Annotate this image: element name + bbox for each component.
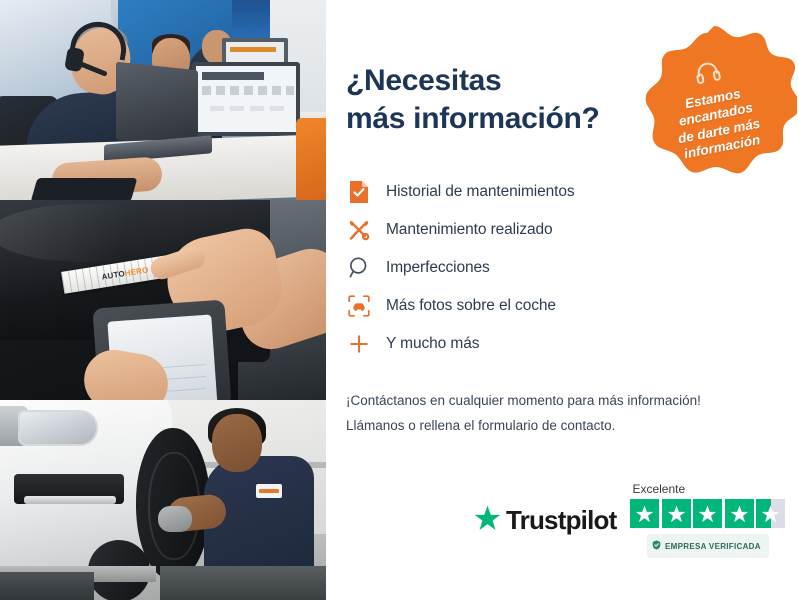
list-item-label: Imperfecciones: [386, 259, 490, 277]
magnifier-icon: [346, 255, 372, 281]
headline-line-1: ¿Necesitas: [346, 64, 501, 97]
car-headlight: [18, 410, 98, 446]
car-viewfinder-icon: [346, 293, 372, 319]
technician-glove: [158, 506, 192, 532]
call-center-agents-photo: [0, 0, 326, 200]
verified-label: EMPRESA VERIFICADA: [665, 542, 761, 551]
badge-content: Estamos encantados de darte más informac…: [617, 8, 799, 203]
document-check-icon: [346, 179, 372, 205]
verified-business-badge: EMPRESA VERIFICADA: [647, 534, 769, 558]
list-item-label: Historial de mantenimientos: [386, 183, 575, 201]
trustpilot-wordmark: Trustpilot: [506, 505, 616, 536]
list-item: Imperfecciones: [346, 249, 799, 287]
desk-tablet: [31, 178, 138, 200]
car-reflection: [0, 204, 180, 262]
trustpilot-score-group: Excelente: [630, 482, 785, 558]
desktop-monitor: [192, 62, 300, 136]
tools-cross-icon: [346, 217, 372, 243]
laptop-screen: [116, 62, 198, 149]
list-item-label: Más fotos sobre el coche: [386, 297, 556, 315]
car-inspection-ruler-photo: AUTOHERO: [0, 200, 326, 400]
feature-list: Historial de mantenimientos M: [346, 173, 799, 363]
orange-equipment: [296, 118, 326, 200]
trustpilot-rating[interactable]: Trustpilot Excelente: [474, 482, 785, 558]
photo-column: AUTOHERO: [0, 0, 326, 600]
monitor-icon-row: [202, 86, 294, 95]
tool-cabinet-left: [0, 572, 94, 600]
status-badge: Estamos encantados de darte más informac…: [631, 22, 797, 188]
shield-check-icon: [652, 537, 661, 555]
contact-text: ¡Contáctanos en cualquier momento para m…: [346, 389, 799, 439]
tool-cabinet-right: [160, 566, 326, 600]
list-item-label: Mantenimiento realizado: [386, 221, 553, 239]
page-title: ¿Necesitas más información?: [346, 62, 636, 139]
star-tile-2: [662, 499, 691, 528]
monitor-text-row: [210, 106, 286, 111]
contact-line-2: Llámanos o rellena el formulario de cont…: [346, 414, 799, 439]
star-rating: [630, 499, 785, 528]
trustpilot-star-icon: [474, 505, 501, 536]
star-tile-4: [725, 499, 754, 528]
content-panel: ¿Necesitas más información? Historial de…: [326, 0, 799, 600]
monitor-header-bar: [230, 47, 276, 52]
list-item: Mantenimiento realizado: [346, 211, 799, 249]
star-tile-5-half: [756, 499, 785, 528]
monitor-search-bar: [202, 72, 264, 80]
list-item: Más fotos sobre el coche: [346, 287, 799, 325]
ruler-brand-text: AUTOHERO: [101, 265, 149, 281]
headline-line-2: más información?: [346, 100, 636, 138]
technician-head: [212, 414, 262, 472]
list-item-label: Y mucho más: [386, 335, 479, 353]
rating-label: Excelente: [632, 482, 685, 496]
plus-icon: [346, 331, 372, 357]
headset-icon: [693, 58, 724, 91]
promo-banner: AUTOHERO: [0, 0, 799, 600]
star-tile-3: [693, 499, 722, 528]
contact-line-1: ¡Contáctanos en cualquier momento para m…: [346, 389, 799, 414]
badge-text: Estamos encantados de darte más informac…: [653, 80, 781, 167]
list-item: Y mucho más: [346, 325, 799, 363]
uniform-logo-patch: [256, 484, 282, 498]
trustpilot-logo[interactable]: Trustpilot: [474, 505, 616, 536]
star-tile-1: [630, 499, 659, 528]
technician-wheel-photo: [0, 400, 326, 600]
car-bumper-trim: [24, 496, 116, 504]
